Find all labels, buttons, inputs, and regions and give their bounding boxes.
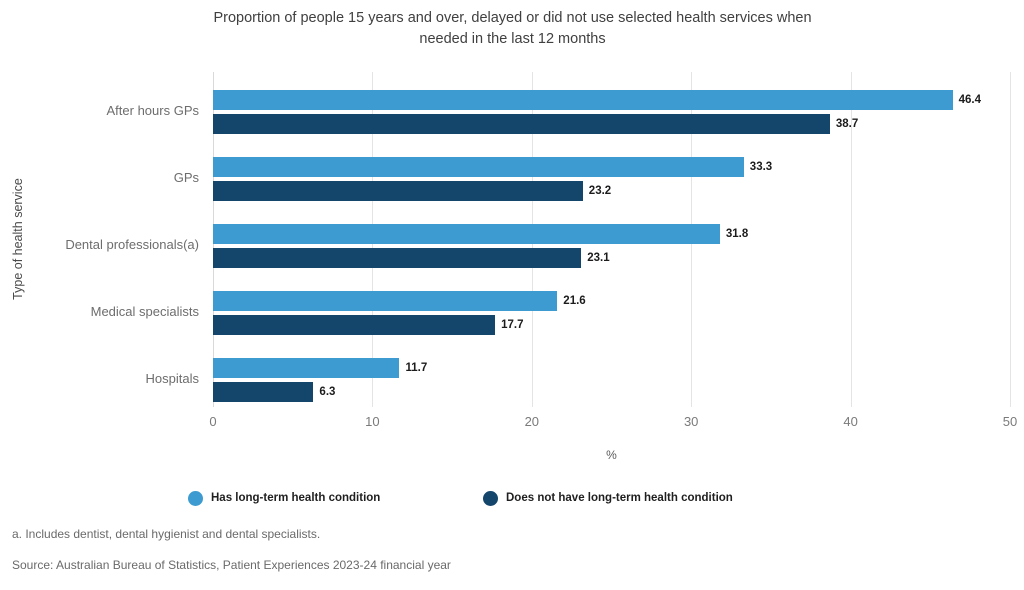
y-axis-tick-3: Medical specialists	[9, 304, 199, 319]
y-axis-tick-1: GPs	[9, 170, 199, 185]
x-axis-title: %	[213, 448, 1010, 462]
x-axis-tick-40: 40	[821, 414, 881, 429]
bar-value-label: 38.7	[836, 114, 858, 134]
footnote-a: a. Includes dentist, dental hygienist an…	[12, 527, 320, 541]
bar-value-label: 21.6	[563, 291, 585, 311]
bar-value-label: 11.7	[405, 358, 427, 378]
bar-1-0[interactable]	[213, 157, 744, 177]
bar-4-1[interactable]	[213, 382, 313, 402]
bar-value-label: 31.8	[726, 224, 748, 244]
bar-value-label: 46.4	[959, 90, 981, 110]
legend-label: Has long-term health condition	[211, 492, 380, 504]
y-axis-tick-labels: After hours GPsGPsDental professionals(a…	[0, 72, 199, 407]
bar-value-label: 23.1	[587, 248, 609, 268]
footnote-source: Source: Australian Bureau of Statistics,…	[12, 558, 451, 572]
chart-title: Proportion of people 15 years and over, …	[190, 8, 835, 50]
plot-area: 46.438.733.323.231.823.121.617.711.76.3	[213, 72, 1010, 407]
bar-value-label: 33.3	[750, 157, 772, 177]
y-axis-tick-4: Hospitals	[9, 371, 199, 386]
x-axis-tick-0: 0	[183, 414, 243, 429]
legend-swatch-circle-icon	[188, 491, 203, 506]
legend-swatch-circle-icon	[483, 491, 498, 506]
gridline-50	[1010, 72, 1011, 407]
bar-2-0[interactable]	[213, 224, 720, 244]
bar-2-1[interactable]	[213, 248, 581, 268]
y-axis-tick-0: After hours GPs	[9, 103, 199, 118]
bar-value-label: 17.7	[501, 315, 523, 335]
legend-item-0[interactable]: Has long-term health condition	[188, 487, 380, 509]
bar-1-1[interactable]	[213, 181, 583, 201]
x-axis-tick-labels: 01020304050	[213, 414, 1010, 434]
x-axis-tick-50: 50	[980, 414, 1024, 429]
x-axis-tick-10: 10	[342, 414, 402, 429]
legend-label: Does not have long-term health condition	[506, 492, 733, 504]
x-axis-tick-30: 30	[661, 414, 721, 429]
bar-3-0[interactable]	[213, 291, 557, 311]
chart-title-line-2: needed in the last 12 months	[419, 31, 605, 47]
bar-3-1[interactable]	[213, 315, 495, 335]
bar-0-0[interactable]	[213, 90, 953, 110]
bar-value-label: 6.3	[319, 382, 335, 402]
bar-4-0[interactable]	[213, 358, 399, 378]
bar-0-1[interactable]	[213, 114, 830, 134]
y-axis-tick-2: Dental professionals(a)	[9, 237, 199, 252]
x-axis-tick-20: 20	[502, 414, 562, 429]
chart-title-line-1: Proportion of people 15 years and over, …	[213, 10, 811, 26]
legend-item-1[interactable]: Does not have long-term health condition	[483, 487, 733, 509]
bar-value-label: 23.2	[589, 181, 611, 201]
